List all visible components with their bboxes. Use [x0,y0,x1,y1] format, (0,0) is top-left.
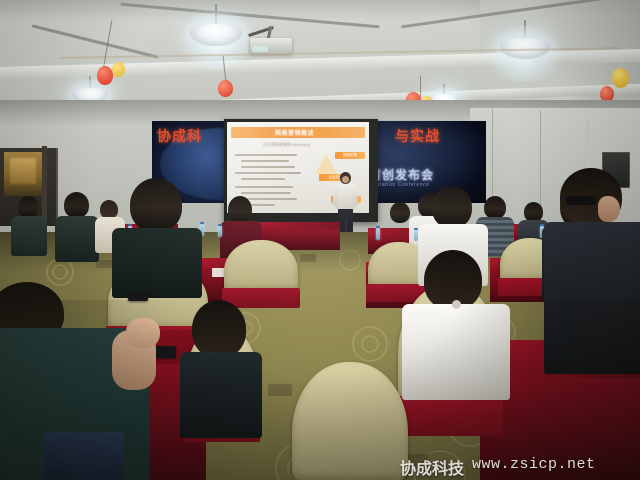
presenter-face [342,176,349,183]
floor-vignette [0,300,640,480]
doorway-lamp-glow [10,158,36,184]
audience-face-profile [598,196,620,222]
watermark-brand: 协成科技 [400,455,464,479]
watermark-url: www.zsicp.net [472,456,596,473]
pendant-lamp-1 [190,4,242,50]
water-bottle-4 [218,226,222,237]
watermark: 协成科技 www.zsicp.net [400,455,632,477]
eyeglasses-2 [566,196,596,205]
balloon-red-1 [97,66,113,85]
banner-title-right: 与实战 [395,126,440,146]
pendant-lamp-2 [500,20,550,64]
water-bottle-5 [376,228,380,240]
balloon-yellow-3 [612,68,629,88]
balloon-tie-3 [420,76,421,98]
conference-room-photo: 协成科 与实战 下首创发布会 IT Integration Conference… [0,0,640,480]
projector-lens [252,46,268,52]
banner-title-left: 协成科 [157,126,202,146]
balloon-red-2 [218,80,233,97]
balloon-yellow-1 [112,62,125,77]
